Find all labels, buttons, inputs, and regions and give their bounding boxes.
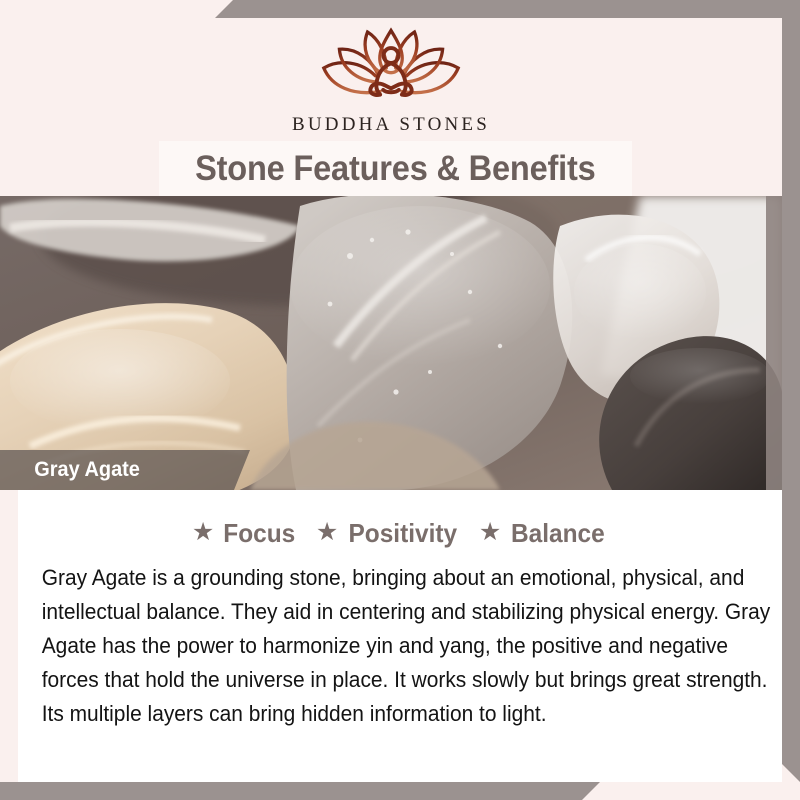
brand-name: BUDDHA STONES xyxy=(292,114,490,136)
benefits-row: ★ Focus ★ Positivity ★ Balance xyxy=(38,518,762,549)
frame-band-bottom xyxy=(0,782,600,800)
title-band: Stone Features & Benefits xyxy=(159,141,632,196)
poster-inner-canvas: BUDDHA STONES Stone Features & Benefits xyxy=(0,18,782,782)
frame-band-right xyxy=(782,0,800,782)
page-title: Stone Features & Benefits xyxy=(195,149,596,189)
stone-photo-illustration xyxy=(0,196,782,490)
stone-name-banner: Gray Agate xyxy=(0,450,250,490)
stone-name-label: Gray Agate xyxy=(0,458,140,482)
lotus-meditation-figure-icon xyxy=(305,24,477,112)
benefit-label: Positivity xyxy=(349,518,458,549)
stone-photo xyxy=(0,196,782,490)
content-card: ★ Focus ★ Positivity ★ Balance Gray Agat… xyxy=(18,490,782,782)
frame-band-top xyxy=(215,0,800,18)
benefit-item-focus: ★ Focus xyxy=(192,518,298,549)
stone-description: Gray Agate is a grounding stone, bringin… xyxy=(38,561,778,731)
star-icon: ★ xyxy=(192,520,214,545)
benefit-label: Focus xyxy=(224,518,296,549)
star-icon: ★ xyxy=(479,520,501,545)
benefit-label: Balance xyxy=(511,518,605,549)
benefit-item-balance: ★ Balance xyxy=(479,518,608,549)
star-icon: ★ xyxy=(316,520,338,545)
benefit-item-positivity: ★ Positivity xyxy=(316,518,461,549)
stone-info-poster: BUDDHA STONES Stone Features & Benefits xyxy=(0,0,800,800)
